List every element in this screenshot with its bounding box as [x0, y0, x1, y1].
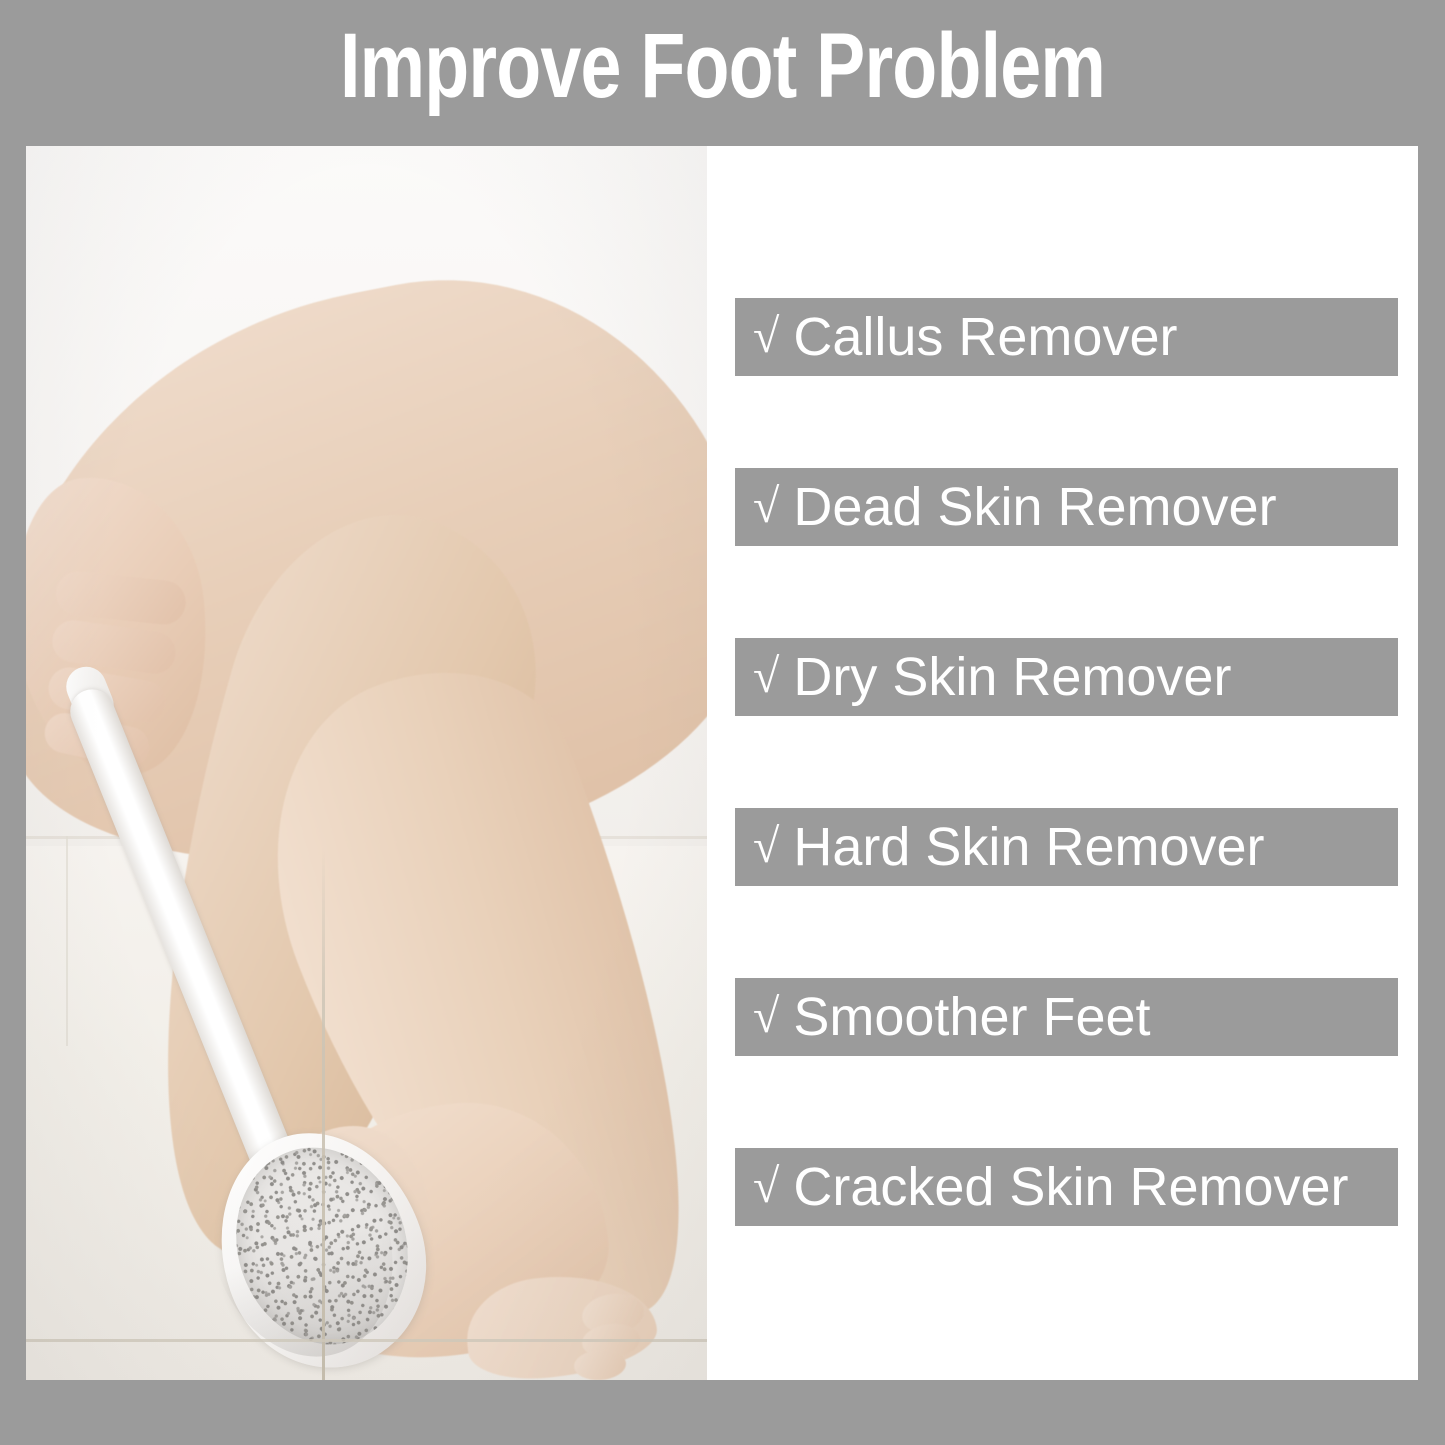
tile-grout-line-vertical	[322, 846, 325, 1380]
feature-label: Smoother Feet	[793, 990, 1150, 1044]
tile-grout-line-left	[66, 836, 68, 1046]
feature-label: Callus Remover	[793, 310, 1177, 364]
feature-list-panel: √ Callus Remover √ Dead Skin Remover √ D…	[707, 146, 1418, 1380]
check-icon: √	[753, 1163, 779, 1211]
feature-item-hard-skin-remover: √ Hard Skin Remover	[735, 808, 1398, 886]
check-icon: √	[753, 313, 779, 361]
feature-item-cracked-skin-remover: √ Cracked Skin Remover	[735, 1148, 1398, 1226]
feature-label: Hard Skin Remover	[793, 820, 1264, 874]
feature-label: Dead Skin Remover	[793, 480, 1276, 534]
product-photo	[26, 146, 707, 1380]
marketing-image-canvas: Improve Foot Problem √ Callus	[0, 0, 1445, 1445]
feature-item-dead-skin-remover: √ Dead Skin Remover	[735, 468, 1398, 546]
check-icon: √	[753, 823, 779, 871]
check-icon: √	[753, 993, 779, 1041]
check-icon: √	[753, 653, 779, 701]
feature-item-smoother-feet: √ Smoother Feet	[735, 978, 1398, 1056]
feature-item-callus-remover: √ Callus Remover	[735, 298, 1398, 376]
feature-label: Dry Skin Remover	[793, 650, 1231, 704]
check-icon: √	[753, 483, 779, 531]
tile-grout-line-horizontal	[26, 1339, 707, 1342]
page-title: Improve Foot Problem	[145, 18, 1301, 115]
feature-label: Cracked Skin Remover	[793, 1160, 1348, 1214]
feature-item-dry-skin-remover: √ Dry Skin Remover	[735, 638, 1398, 716]
